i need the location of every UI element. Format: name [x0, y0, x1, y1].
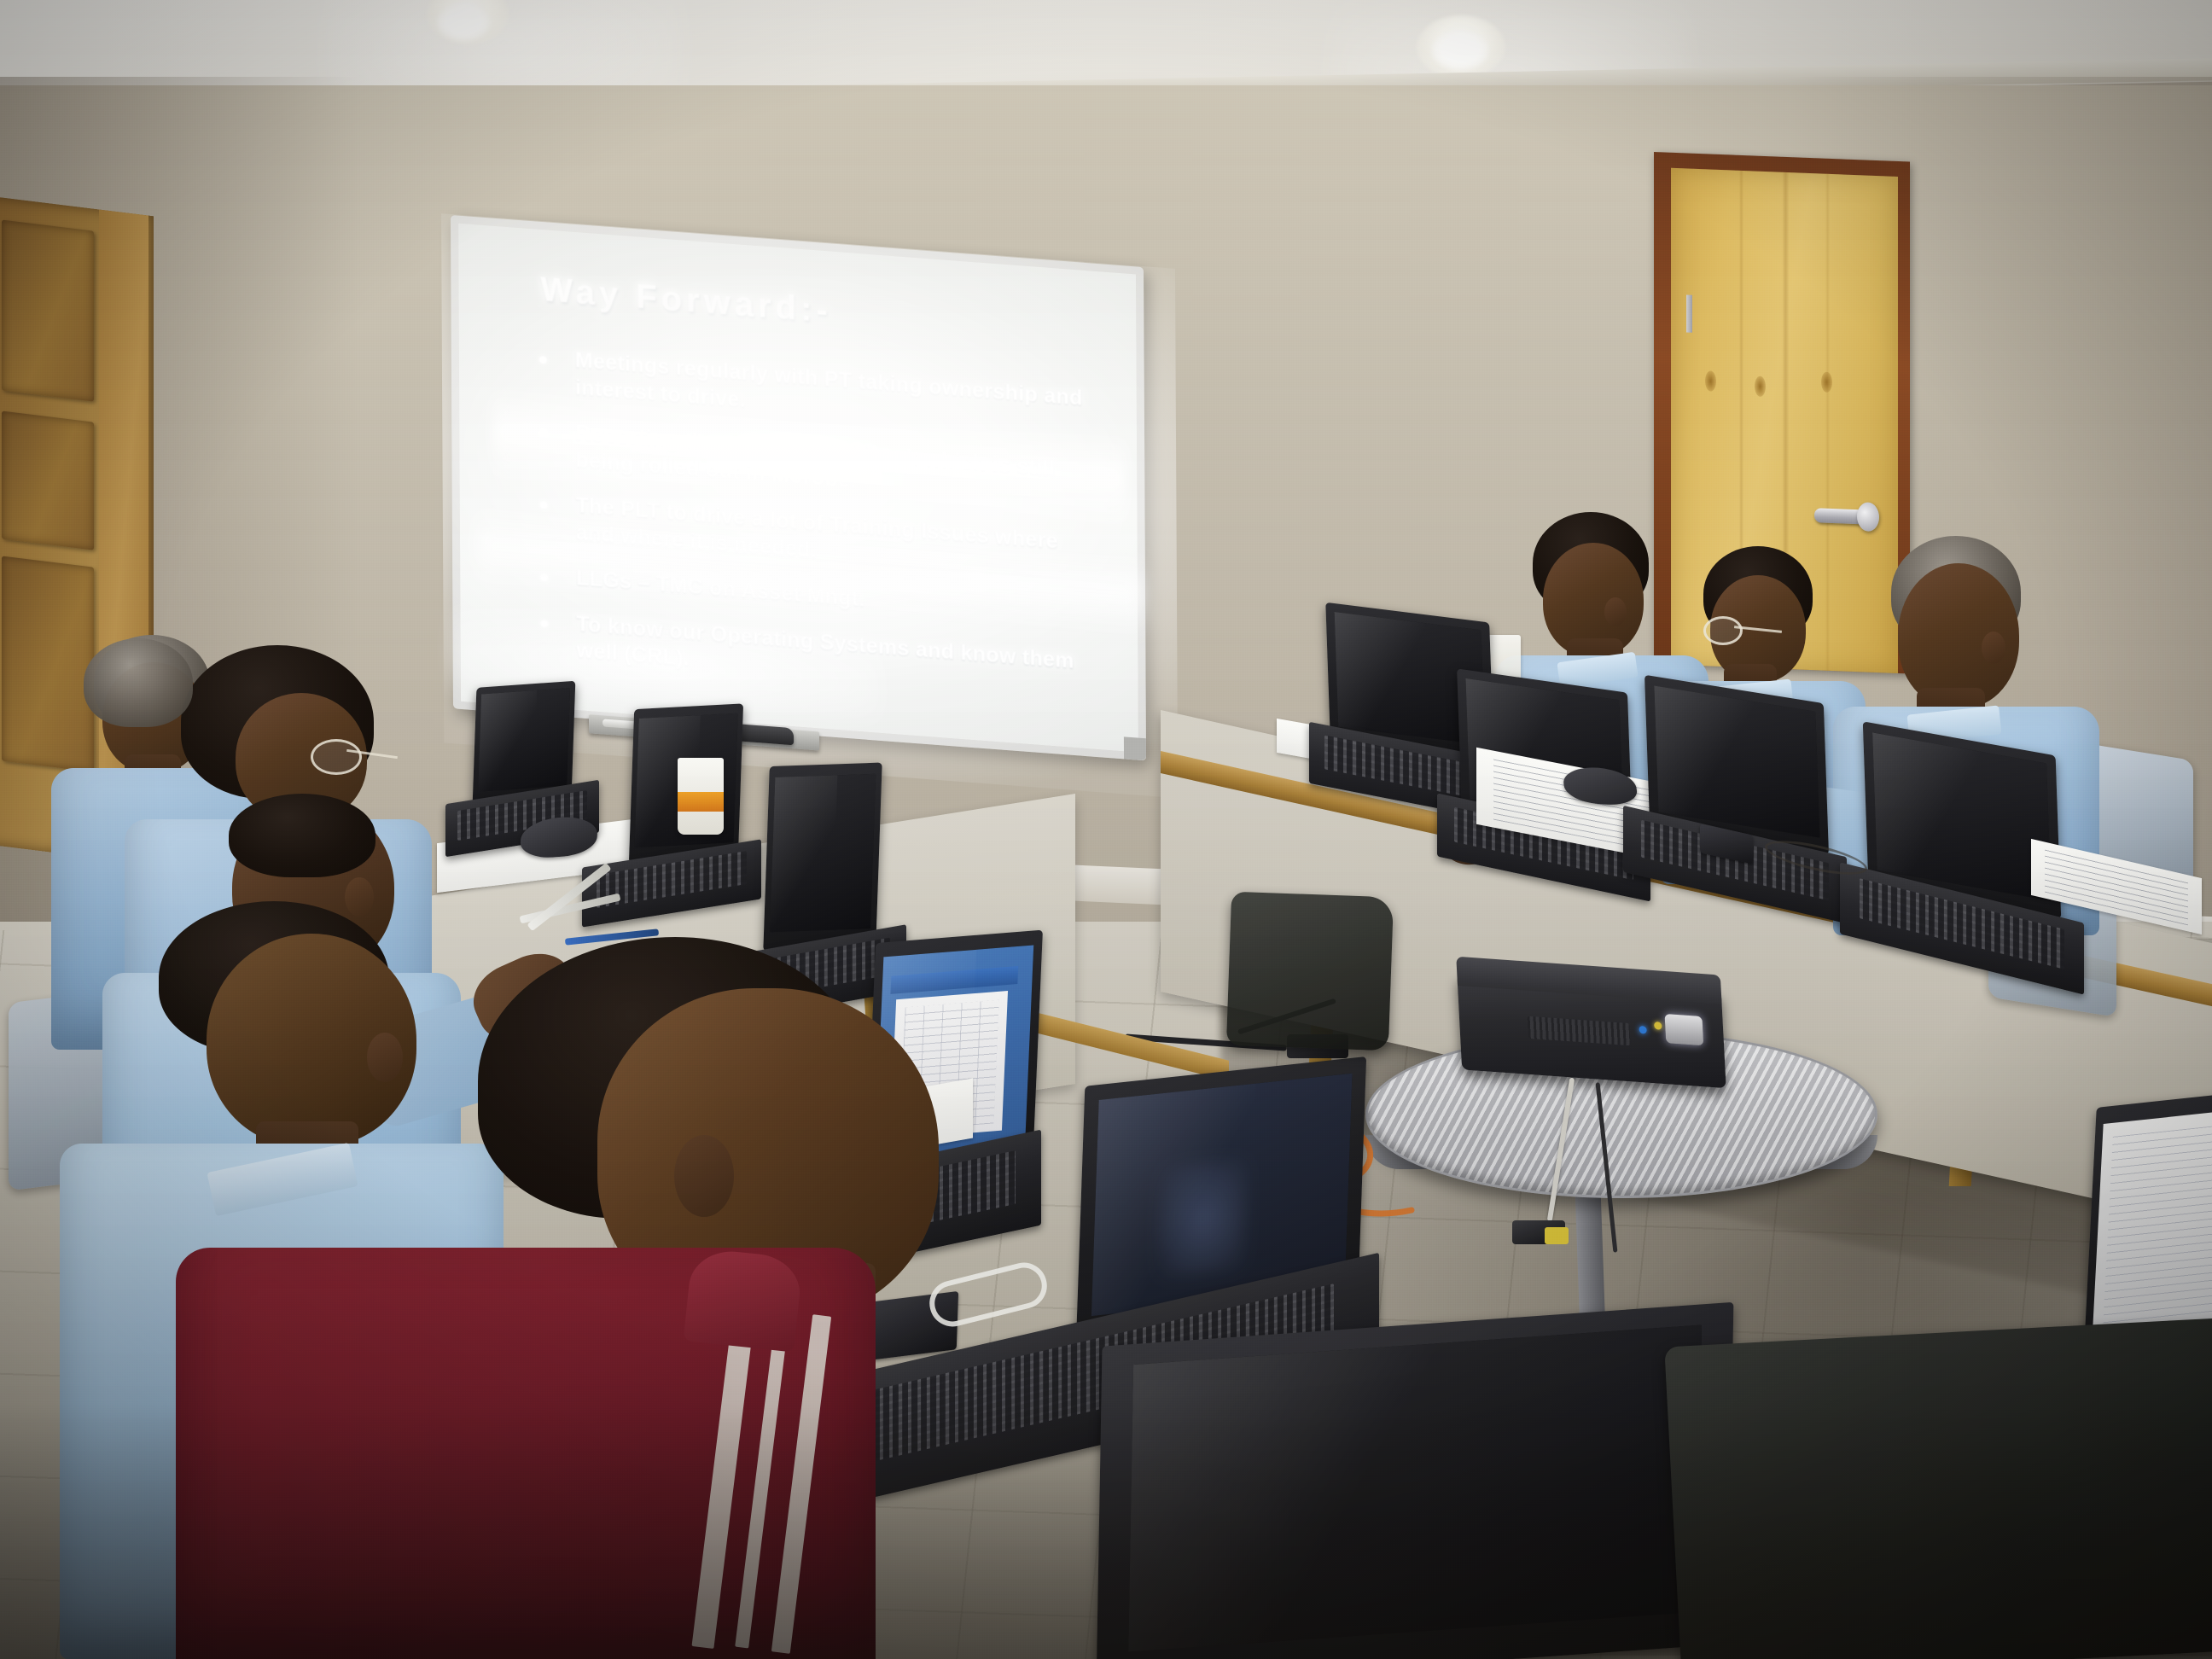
screen-glare [1654, 685, 1758, 828]
adapter-label [1545, 1227, 1569, 1244]
projector-vent [1527, 1016, 1630, 1046]
ceiling-downlight-core [437, 3, 490, 41]
ear [367, 1033, 403, 1082]
laptop-screen [770, 774, 876, 933]
door-knot [1755, 376, 1766, 397]
data-projector[interactable] [1457, 974, 1726, 1088]
projector-status-led [1654, 1022, 1662, 1030]
door-hinge [1686, 294, 1692, 332]
screen-glare [1872, 733, 1985, 889]
screen-glare [1091, 1084, 1255, 1317]
laptop-screen [1872, 733, 2051, 901]
ear [674, 1135, 734, 1217]
projector-lens-icon [1665, 1014, 1704, 1045]
screen-glare [478, 690, 537, 792]
eyeglasses-icon [1703, 616, 1743, 645]
ear [345, 877, 374, 917]
cup-label-band [678, 792, 724, 812]
ear [1604, 597, 1627, 626]
hair [84, 638, 193, 727]
laptop-screen [1654, 685, 1819, 838]
door-panel [2, 219, 94, 401]
eyeglasses-icon [311, 739, 362, 775]
door-knot [1821, 372, 1832, 393]
slide-title: Way Forward:- [540, 271, 1098, 351]
projector-power-led [1639, 1026, 1646, 1034]
hair [229, 794, 375, 877]
projected-slide: Way Forward:- Meetings regularly with PT… [458, 224, 1138, 753]
slide-bullet-list: Meetings regularly with PT taking owners… [519, 343, 1101, 704]
foreground-shadow [0, 1403, 2212, 1659]
laptop-bag [1226, 892, 1394, 1051]
door-panel [2, 556, 94, 771]
screen-glare [1334, 612, 1429, 738]
ear [1982, 632, 2005, 664]
screen-text-lines [2102, 1126, 2212, 1347]
laptop-screen [478, 688, 570, 792]
ceiling-downlight-core [1432, 31, 1488, 70]
door-handle-rose [1857, 502, 1879, 532]
whiteboard-corner [1124, 736, 1146, 760]
door-knot [1705, 370, 1716, 391]
training-room-photo: Way Forward:- Meetings regularly with PT… [0, 0, 2212, 1659]
door-panel [2, 410, 94, 550]
screen-glare [770, 775, 838, 932]
paper-cup[interactable] [678, 758, 724, 835]
whiteboard-projection-screen: Way Forward:- Meetings regularly with PT… [451, 215, 1146, 760]
